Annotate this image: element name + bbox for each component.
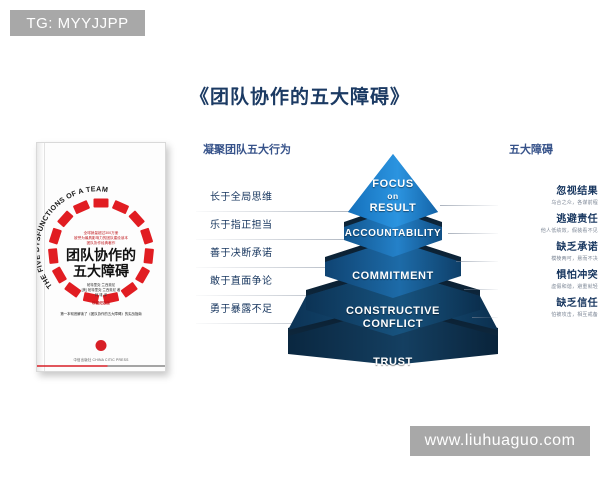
dysfunction-label: 惧怕冲突 [478, 266, 598, 281]
book-author: 帕特里克·兰西奥尼 [美] 帕特里克·兰西奥尼 著 柯 雄 译 [53, 283, 149, 298]
dysfunction-row-1: 忽视结果 乌合之众，各谋前程 [478, 182, 598, 206]
book-chinese-title: 团队协作的 五大障碍 [46, 247, 156, 279]
dysfunction-subtitle: 模棱两可，悬而不决 [478, 255, 598, 262]
slide-canvas: TG: MYYJJPP 《团队协作的五大障碍》 THE FIV [0, 0, 600, 480]
dysfunction-row-2: 逃避责任 他人低绩效，假装看不见 [478, 210, 598, 234]
book-bottom-bar [37, 365, 165, 367]
pyramid-tier-1-label: FOCUS on RESULT [288, 178, 498, 214]
book-quote: 第一本彻底解读了《团队协作的五大障碍》的实战指南 [42, 311, 160, 316]
book-publisher: 中信出版社 CHINA CITIC PRESS [73, 357, 128, 362]
dysfunction-label: 忽视结果 [478, 182, 598, 197]
dysfunction-subtitle: 怕被攻击，相互戒备 [478, 311, 598, 318]
dysfunction-row-3: 缺乏承诺 模棱两可，悬而不决 [478, 238, 598, 262]
publisher-logo-icon [96, 340, 107, 351]
dysfunction-row-5: 缺乏信任 怕被攻击，相互戒备 [478, 294, 598, 318]
book-edition-badge: 珍藏纪念版 [92, 301, 110, 306]
pyramid-tier-5-label: TRUST [288, 356, 498, 368]
behavior-label: 长于全局思维 [210, 188, 272, 203]
pyramid-tier-3-label: COMMITMENT [288, 270, 498, 282]
left-column-header: 凝聚团队五大行为 [203, 141, 291, 157]
dysfunction-subtitle: 虚假和谐，避重就轻 [478, 283, 598, 290]
dysfunction-subtitle: 他人低绩效，假装看不见 [478, 227, 598, 234]
book-series-note: 全球销量超过300万册 被誉为最具影响力的团队建设读本 团队协作经典著作 [64, 231, 138, 246]
book-cover-image: THE FIVE DYSFUNCTIONS OF A TEAM 全球销量超过30… [36, 142, 166, 372]
pyramid-tier-4-label: CONSTRUCTIVE CONFLICT [288, 305, 498, 331]
watermark-bottom-right: www.liuhuaguo.com [410, 426, 590, 456]
behavior-label: 勇于暴露不足 [210, 300, 272, 315]
watermark-top-left: TG: MYYJJPP [10, 10, 145, 36]
pyramid-diagram: FOCUS on RESULT ACCOUNTABILITY COMMITMEN… [288, 150, 498, 365]
dysfunction-label: 缺乏承诺 [478, 238, 598, 253]
right-column-header: 五大障碍 [509, 141, 553, 157]
book-spine [37, 143, 45, 371]
behavior-label: 善于决断承诺 [210, 244, 272, 259]
behavior-label: 敢于直面争论 [210, 272, 272, 287]
dysfunction-subtitle: 乌合之众，各谋前程 [478, 199, 598, 206]
dysfunction-row-4: 惧怕冲突 虚假和谐，避重就轻 [478, 266, 598, 290]
page-title: 《团队协作的五大障碍》 [0, 82, 600, 109]
dysfunction-label: 逃避责任 [478, 210, 598, 225]
dysfunction-label: 缺乏信任 [478, 294, 598, 309]
behavior-label: 乐于指正担当 [210, 216, 272, 231]
